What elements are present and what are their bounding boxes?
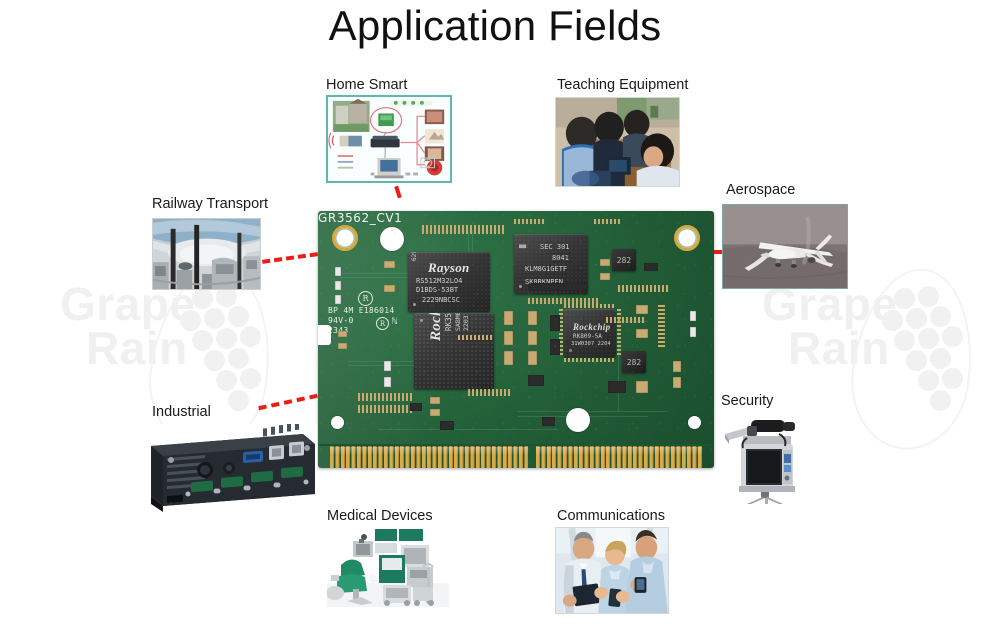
pad-array-right-vertical [658, 305, 665, 349]
silkscreen-compliance-text: BP 4M E186014 94V-0 2343 [328, 306, 395, 336]
pad-array-top [422, 225, 506, 234]
industrial-pc-photo-icon [143, 424, 317, 512]
pad-array-center [458, 335, 494, 340]
pad-array-top-small [514, 219, 544, 224]
pmic-brand-text: Rockchip [573, 322, 610, 332]
pad-array-lower-left-2 [358, 405, 414, 413]
board-edge-notch [318, 325, 331, 345]
thumbnail-security[interactable] [721, 412, 809, 504]
pad-array-lower-mid [468, 389, 512, 396]
watermark-line2: Rain [86, 326, 195, 370]
ram-date-code: 2229NBCSC [422, 296, 460, 304]
emmc-lot-code: SK0RKNPEN [525, 278, 563, 286]
mounting-hole-top-left [332, 225, 358, 251]
label-home-smart: Home Smart [326, 77, 407, 93]
connector-line-industrial [258, 394, 318, 410]
thumbnail-railway-transport[interactable] [152, 218, 261, 290]
mounting-hole-top-inner [380, 227, 404, 251]
recognition-mark-icon: R [376, 317, 389, 330]
mounting-hole-bottom-center [566, 408, 590, 432]
smart-home-diagram-icon [328, 97, 450, 182]
thumbnail-communications[interactable] [555, 527, 669, 614]
watermark-line2: Rain [788, 326, 897, 370]
connector-line-home-smart [394, 186, 402, 199]
pmic-part-number: RK809-5A [573, 333, 602, 340]
regulatory-symbol: ℕ [392, 317, 398, 328]
medical-room-photo-icon [327, 527, 449, 607]
thumbnail-medical-devices[interactable] [327, 527, 449, 607]
gold-finger-connector [318, 444, 714, 468]
rk3562-som-board[interactable]: BP 4M E186014 94V-0 2343 R R ℕ GR3562_CV… [318, 211, 714, 468]
emmc-part-number: KLM8G1GETF [525, 265, 567, 273]
thumbnail-home-smart[interactable] [326, 95, 452, 183]
emmc-line1: SEC 301 [540, 243, 570, 251]
soc-part-number: RK3562 [444, 313, 453, 331]
thumbnail-teaching-equipment[interactable] [555, 97, 680, 187]
ram-chip-rayson: Rayson RS512M32LO4 D1BDS-53BT 2229NBCSC … [408, 252, 490, 312]
mounting-hole-top-right [674, 225, 700, 251]
ram-part-line2: D1BDS-53BT [416, 286, 458, 294]
watermark-left: Grape Rain [60, 282, 195, 370]
soc-lot-line: SABM0N499 [454, 313, 462, 331]
thumbnail-industrial[interactable] [143, 424, 317, 512]
pad-array-right-upper [618, 285, 670, 292]
label-railway-transport: Railway Transport [152, 196, 268, 212]
business-people-photo-icon [556, 528, 668, 613]
label-medical-devices: Medical Devices [327, 508, 433, 524]
pmic-lot-code: 31W0307 2204 [571, 341, 611, 347]
grape-cluster-icon [852, 272, 982, 462]
label-security: Security [721, 393, 773, 409]
connector-line-railway [262, 252, 318, 264]
page-title: Application Fields [0, 2, 990, 50]
inductor-1: 282 [612, 249, 636, 271]
mounting-hole-bottom-left [331, 416, 344, 429]
pad-array-lower-left [358, 393, 414, 401]
soc-brand-text: Rockchip [428, 313, 445, 341]
inductor-2: 282 [622, 351, 646, 373]
students-lab-photo-icon [556, 98, 679, 187]
soc-date-code: 2203 [462, 315, 470, 331]
watermark-right: Grape Rain [762, 282, 897, 370]
label-industrial: Industrial [152, 404, 211, 420]
uav-drone-photo-icon [723, 205, 847, 289]
train-station-photo-icon [153, 219, 260, 290]
label-communications: Communications [557, 508, 665, 524]
mounting-hole-bottom-right [688, 416, 701, 429]
ram-corner-code: 629 [411, 252, 418, 261]
pad-array-top-small-2 [594, 219, 620, 224]
pad-array-right [606, 317, 646, 323]
pad-array-mid [528, 298, 600, 304]
ul-mark-icon: R [358, 291, 373, 306]
thumbnail-aerospace[interactable] [722, 204, 848, 289]
pad-array-bottom [348, 447, 396, 453]
board-model-silkscreen: GR3562_CV1 [318, 211, 714, 225]
ram-part-line1: RS512M32LO4 [416, 277, 462, 285]
emmc-line2: 8041 [552, 254, 569, 262]
soc-chip-rockchip-rk3562: Rockchip RK3562 SABM0N499 2203 [414, 313, 494, 389]
ram-brand-text: Rayson [428, 260, 470, 276]
emmc-chip-samsung: ■■ SEC 301 8041 KLM8G1GETF SK0RKNPEN [514, 234, 588, 294]
application-fields-poster: Application Fields Grape Rain [0, 0, 990, 628]
surveillance-camera-photo-icon [721, 412, 809, 504]
label-teaching-equipment: Teaching Equipment [557, 77, 688, 93]
label-aerospace: Aerospace [726, 182, 795, 198]
pmic-chip-rockchip: Rockchip RK809-5A 31W0307 2204 [564, 309, 616, 357]
